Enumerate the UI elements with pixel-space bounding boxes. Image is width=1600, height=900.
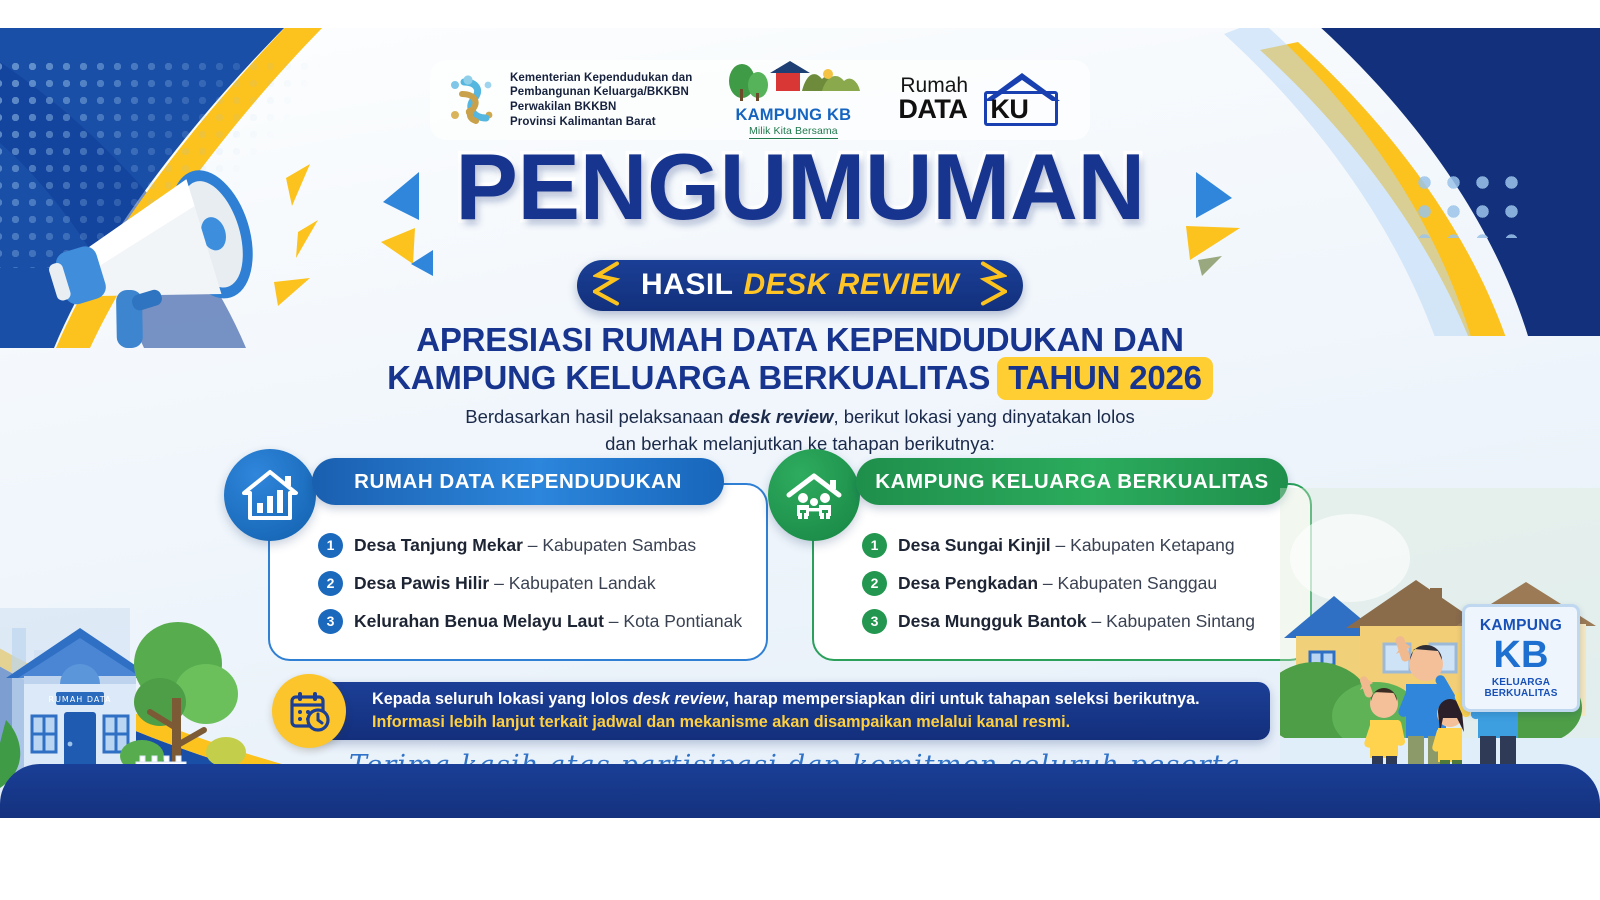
bkkbn-line-2: Pembangunan Keluarga/BKKBN: [510, 86, 689, 98]
title-spark-left: [375, 168, 445, 283]
card-kampung-keluarga-berkualitas: KAMPUNG KELUARGA BERKUALITAS 1 Desa Sung…: [812, 483, 1312, 661]
lead-line1-emphasis: desk review: [729, 406, 834, 427]
card-rumah-data-kependudukan: RUMAH DATA KEPENDUDUKAN 1 Desa Tanjung M…: [268, 483, 768, 661]
list-item: 1 Desa Tanjung Mekar – Kabupaten Sambas: [318, 527, 750, 563]
page-title: PENGUMUMAN: [455, 140, 1145, 234]
banner-burst-right-icon: [977, 261, 1007, 310]
bkkbn-line-3: Perwakilan BKKBN: [510, 101, 616, 113]
list-item-number: 3: [862, 609, 887, 634]
list-item-region: Kota Pontianak: [623, 611, 742, 631]
list-item-name: Kelurahan Benua Melayu Laut: [354, 611, 604, 631]
bkkbn-line-4: Provinsi Kalimantan Barat: [510, 116, 656, 128]
bkkbn-logo-text: Kementerian Kependudukan dan Pembangunan…: [510, 71, 692, 129]
card-heading-kampung-kb: KAMPUNG KELUARGA BERKUALITAS: [856, 458, 1288, 505]
banner-burst-left-icon: [593, 261, 623, 310]
kampung-kb-sign: KAMPUNG KB KELUARGA BERKUALITAS: [1462, 604, 1580, 712]
notice-line1-post: , harap mempersiapkan diri untuk tahapan…: [725, 690, 1200, 708]
rumah-dataku-word-2: DATA: [898, 94, 967, 125]
title-spark-right: [1168, 168, 1248, 285]
kb-sign-line-4: BERKUALITAS: [1484, 688, 1557, 699]
list-item-number: 2: [862, 571, 887, 596]
kampung-kb-logo-icon: [718, 61, 868, 107]
notice-line1-emphasis: desk review: [633, 690, 725, 708]
card-heading-rumah-data: RUMAH DATA KEPENDUDUKAN: [312, 458, 724, 505]
list-item-region: Kabupaten Sanggau: [1058, 573, 1218, 593]
list-item-region: Kabupaten Sambas: [542, 535, 696, 555]
family-house-icon: [768, 449, 860, 541]
list-item-number: 2: [318, 571, 343, 596]
list-item-name: Desa Pengkadan: [898, 573, 1038, 593]
kb-sign-line-2: KB: [1494, 636, 1549, 674]
notice-line-2: Informasi lebih lanjut terkait jadwal da…: [372, 711, 1200, 734]
lead-paragraph: Berdasarkan hasil pelaksanaan desk revie…: [0, 403, 1600, 458]
list-item-text: Desa Pawis Hilir – Kabupaten Landak: [354, 573, 656, 594]
lead-line1-post: , berikut lokasi yang dinyatakan lolos: [833, 406, 1134, 427]
list-item-region: Kabupaten Sintang: [1106, 611, 1255, 631]
list-item: 2 Desa Pengkadan – Kabupaten Sanggau: [862, 565, 1294, 601]
lead-line1-pre: Berdasarkan hasil pelaksanaan: [465, 406, 728, 427]
list-item-name: Desa Sungai Kinjil: [898, 535, 1051, 555]
list-item-name: Desa Tanjung Mekar: [354, 535, 523, 555]
notice-bar: Kepada seluruh lokasi yang lolos desk re…: [300, 682, 1270, 740]
list-item-text: Desa Sungai Kinjil – Kabupaten Ketapang: [898, 535, 1235, 556]
subtitle-line-2: KAMPUNG KELUARGA BERKUALITAS: [387, 359, 990, 396]
list-item: 3 Desa Mungguk Bantok – Kabupaten Sintan…: [862, 603, 1294, 639]
kb-sign-line-1: KAMPUNG: [1480, 617, 1562, 635]
list-item-name: Desa Pawis Hilir: [354, 573, 489, 593]
subtitle-line-2-wrap: KAMPUNG KELUARGA BERKUALITASTAHUN 2026: [0, 357, 1600, 400]
logo-kampung-kb: KAMPUNG KB Milik Kita Bersama: [718, 61, 868, 139]
kampung-kb-title: KAMPUNG KB: [736, 107, 852, 124]
list-item: 2 Desa Pawis Hilir – Kabupaten Landak: [318, 565, 750, 601]
banner-text-desk-review: DESK REVIEW: [743, 268, 959, 302]
kb-sign-line-3: KELUARGA: [1492, 677, 1550, 688]
notice-text: Kepada seluruh lokasi yang lolos desk re…: [372, 688, 1200, 734]
poster-body: Kementerian Kependudukan dan Pembangunan…: [0, 28, 1600, 818]
year-badge: TAHUN 2026: [997, 357, 1213, 400]
subtitle-line-1: APRESIASI RUMAH DATA KEPENDUDUKAN DAN: [0, 321, 1600, 358]
poster-canvas: Kementerian Kependudukan dan Pembangunan…: [0, 0, 1600, 900]
list-item-region: Kabupaten Landak: [509, 573, 656, 593]
header-logo-bar: Kementerian Kependudukan dan Pembangunan…: [430, 60, 1090, 140]
list-item-name: Desa Mungguk Bantok: [898, 611, 1087, 631]
bkkbn-logo-icon: [444, 72, 500, 128]
banner-text-hasil: HASIL: [641, 268, 734, 302]
logo-bkkbn: Kementerian Kependudukan dan Pembangunan…: [444, 71, 692, 129]
card-list-rumah-data: 1 Desa Tanjung Mekar – Kabupaten Sambas …: [318, 527, 750, 641]
bkkbn-line-1: Kementerian Kependudukan dan: [510, 72, 692, 84]
calendar-clock-icon: [272, 674, 346, 748]
list-item-text: Desa Mungguk Bantok – Kabupaten Sintang: [898, 611, 1255, 632]
list-item-number: 1: [862, 533, 887, 558]
list-item-text: Desa Pengkadan – Kabupaten Sanggau: [898, 573, 1217, 594]
poster-bottom-bar: [0, 764, 1600, 818]
list-item: 3 Kelurahan Benua Melayu Laut – Kota Pon…: [318, 603, 750, 639]
notice-line-1: Kepada seluruh lokasi yang lolos desk re…: [372, 688, 1200, 711]
list-item-text: Desa Tanjung Mekar – Kabupaten Sambas: [354, 535, 696, 556]
rumah-dataku-word-3: KU: [990, 94, 1028, 125]
title-block: PENGUMUMAN: [0, 140, 1600, 234]
notice-line1-pre: Kepada seluruh lokasi yang lolos: [372, 690, 633, 708]
subtitle-banner: HASIL DESK REVIEW: [577, 260, 1023, 311]
list-item-region: Kabupaten Ketapang: [1070, 535, 1234, 555]
logo-rumah-dataku: Rumah DATA KU: [894, 72, 1074, 128]
list-item-number: 1: [318, 533, 343, 558]
list-item: 1 Desa Sungai Kinjil – Kabupaten Ketapan…: [862, 527, 1294, 563]
list-item-number: 3: [318, 609, 343, 634]
house-sign-label: RUMAH DATA: [49, 695, 112, 704]
list-item-text: Kelurahan Benua Melayu Laut – Kota Ponti…: [354, 611, 742, 632]
card-list-kampung-kb: 1 Desa Sungai Kinjil – Kabupaten Ketapan…: [862, 527, 1294, 641]
